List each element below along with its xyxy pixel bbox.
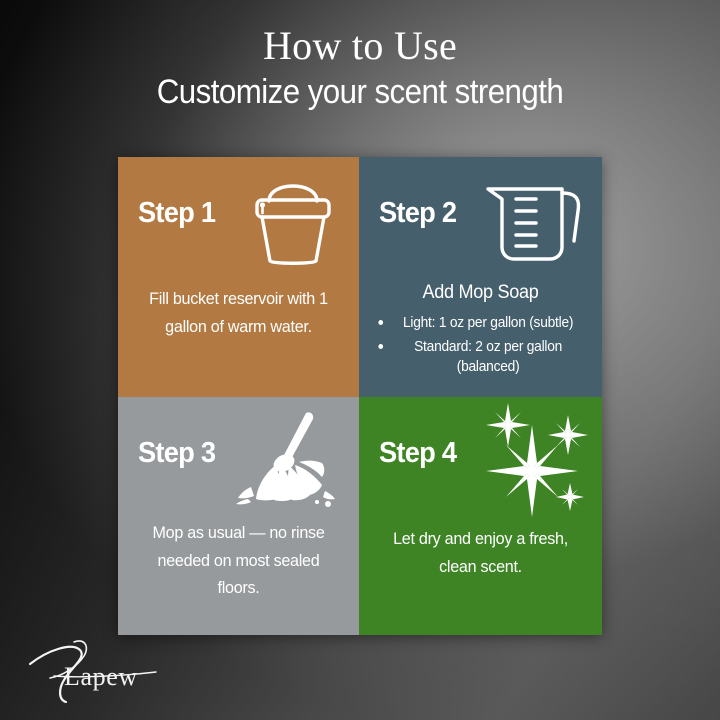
header: How to Use Customize your scent strength — [0, 24, 720, 111]
step-3-label: Step 3 — [138, 437, 215, 470]
step-card-2: Step 2 Add Mop Soap Light: 1 oz per gall… — [359, 157, 602, 397]
step-1-label: Step 1 — [138, 197, 215, 230]
step-4-body: Let dry and enjoy a fresh, clean scent. — [380, 525, 580, 580]
bullet-text: Standard: 2 oz per gallon (balanced) — [414, 339, 562, 376]
brand-name: Lapew — [64, 662, 138, 692]
measuring-cup-icon — [478, 165, 596, 273]
bullet-dot-icon — [378, 344, 383, 349]
step-2-label: Step 2 — [379, 197, 456, 230]
step-3-body: Mop as usual — no rinse needed on most s… — [139, 519, 338, 602]
step-1-body: Fill bucket reservoir with 1 gallon of w… — [139, 285, 338, 340]
poster-canvas: How to Use Customize your scent strength… — [0, 0, 720, 720]
step-2-heading: Add Mop Soap — [375, 282, 587, 304]
step-2-bullet-list: Light: 1 oz per gallon (subtle) Standard… — [367, 313, 594, 381]
step-card-4: Step 4 — [359, 397, 602, 635]
mop-icon — [229, 405, 347, 513]
list-item: Standard: 2 oz per gallon (balanced) — [373, 337, 589, 378]
step-4-label: Step 4 — [379, 437, 456, 470]
list-item: Light: 1 oz per gallon (subtle) — [373, 313, 589, 334]
sparkles-icon — [474, 403, 596, 521]
bucket-icon — [241, 169, 345, 269]
bullet-text: Light: 1 oz per gallon (subtle) — [403, 315, 573, 331]
bullet-dot-icon — [378, 320, 383, 325]
step-card-1: Step 1 Fill bucket reservoir with 1 gall… — [118, 157, 359, 397]
steps-grid: Step 1 Fill bucket reservoir with 1 gall… — [118, 157, 602, 635]
step-card-3: Step 3 — [118, 397, 359, 635]
brand-logo: Lapew — [14, 628, 204, 706]
page-title: How to Use — [0, 24, 720, 67]
page-subtitle: Customize your scent strength — [29, 73, 691, 111]
